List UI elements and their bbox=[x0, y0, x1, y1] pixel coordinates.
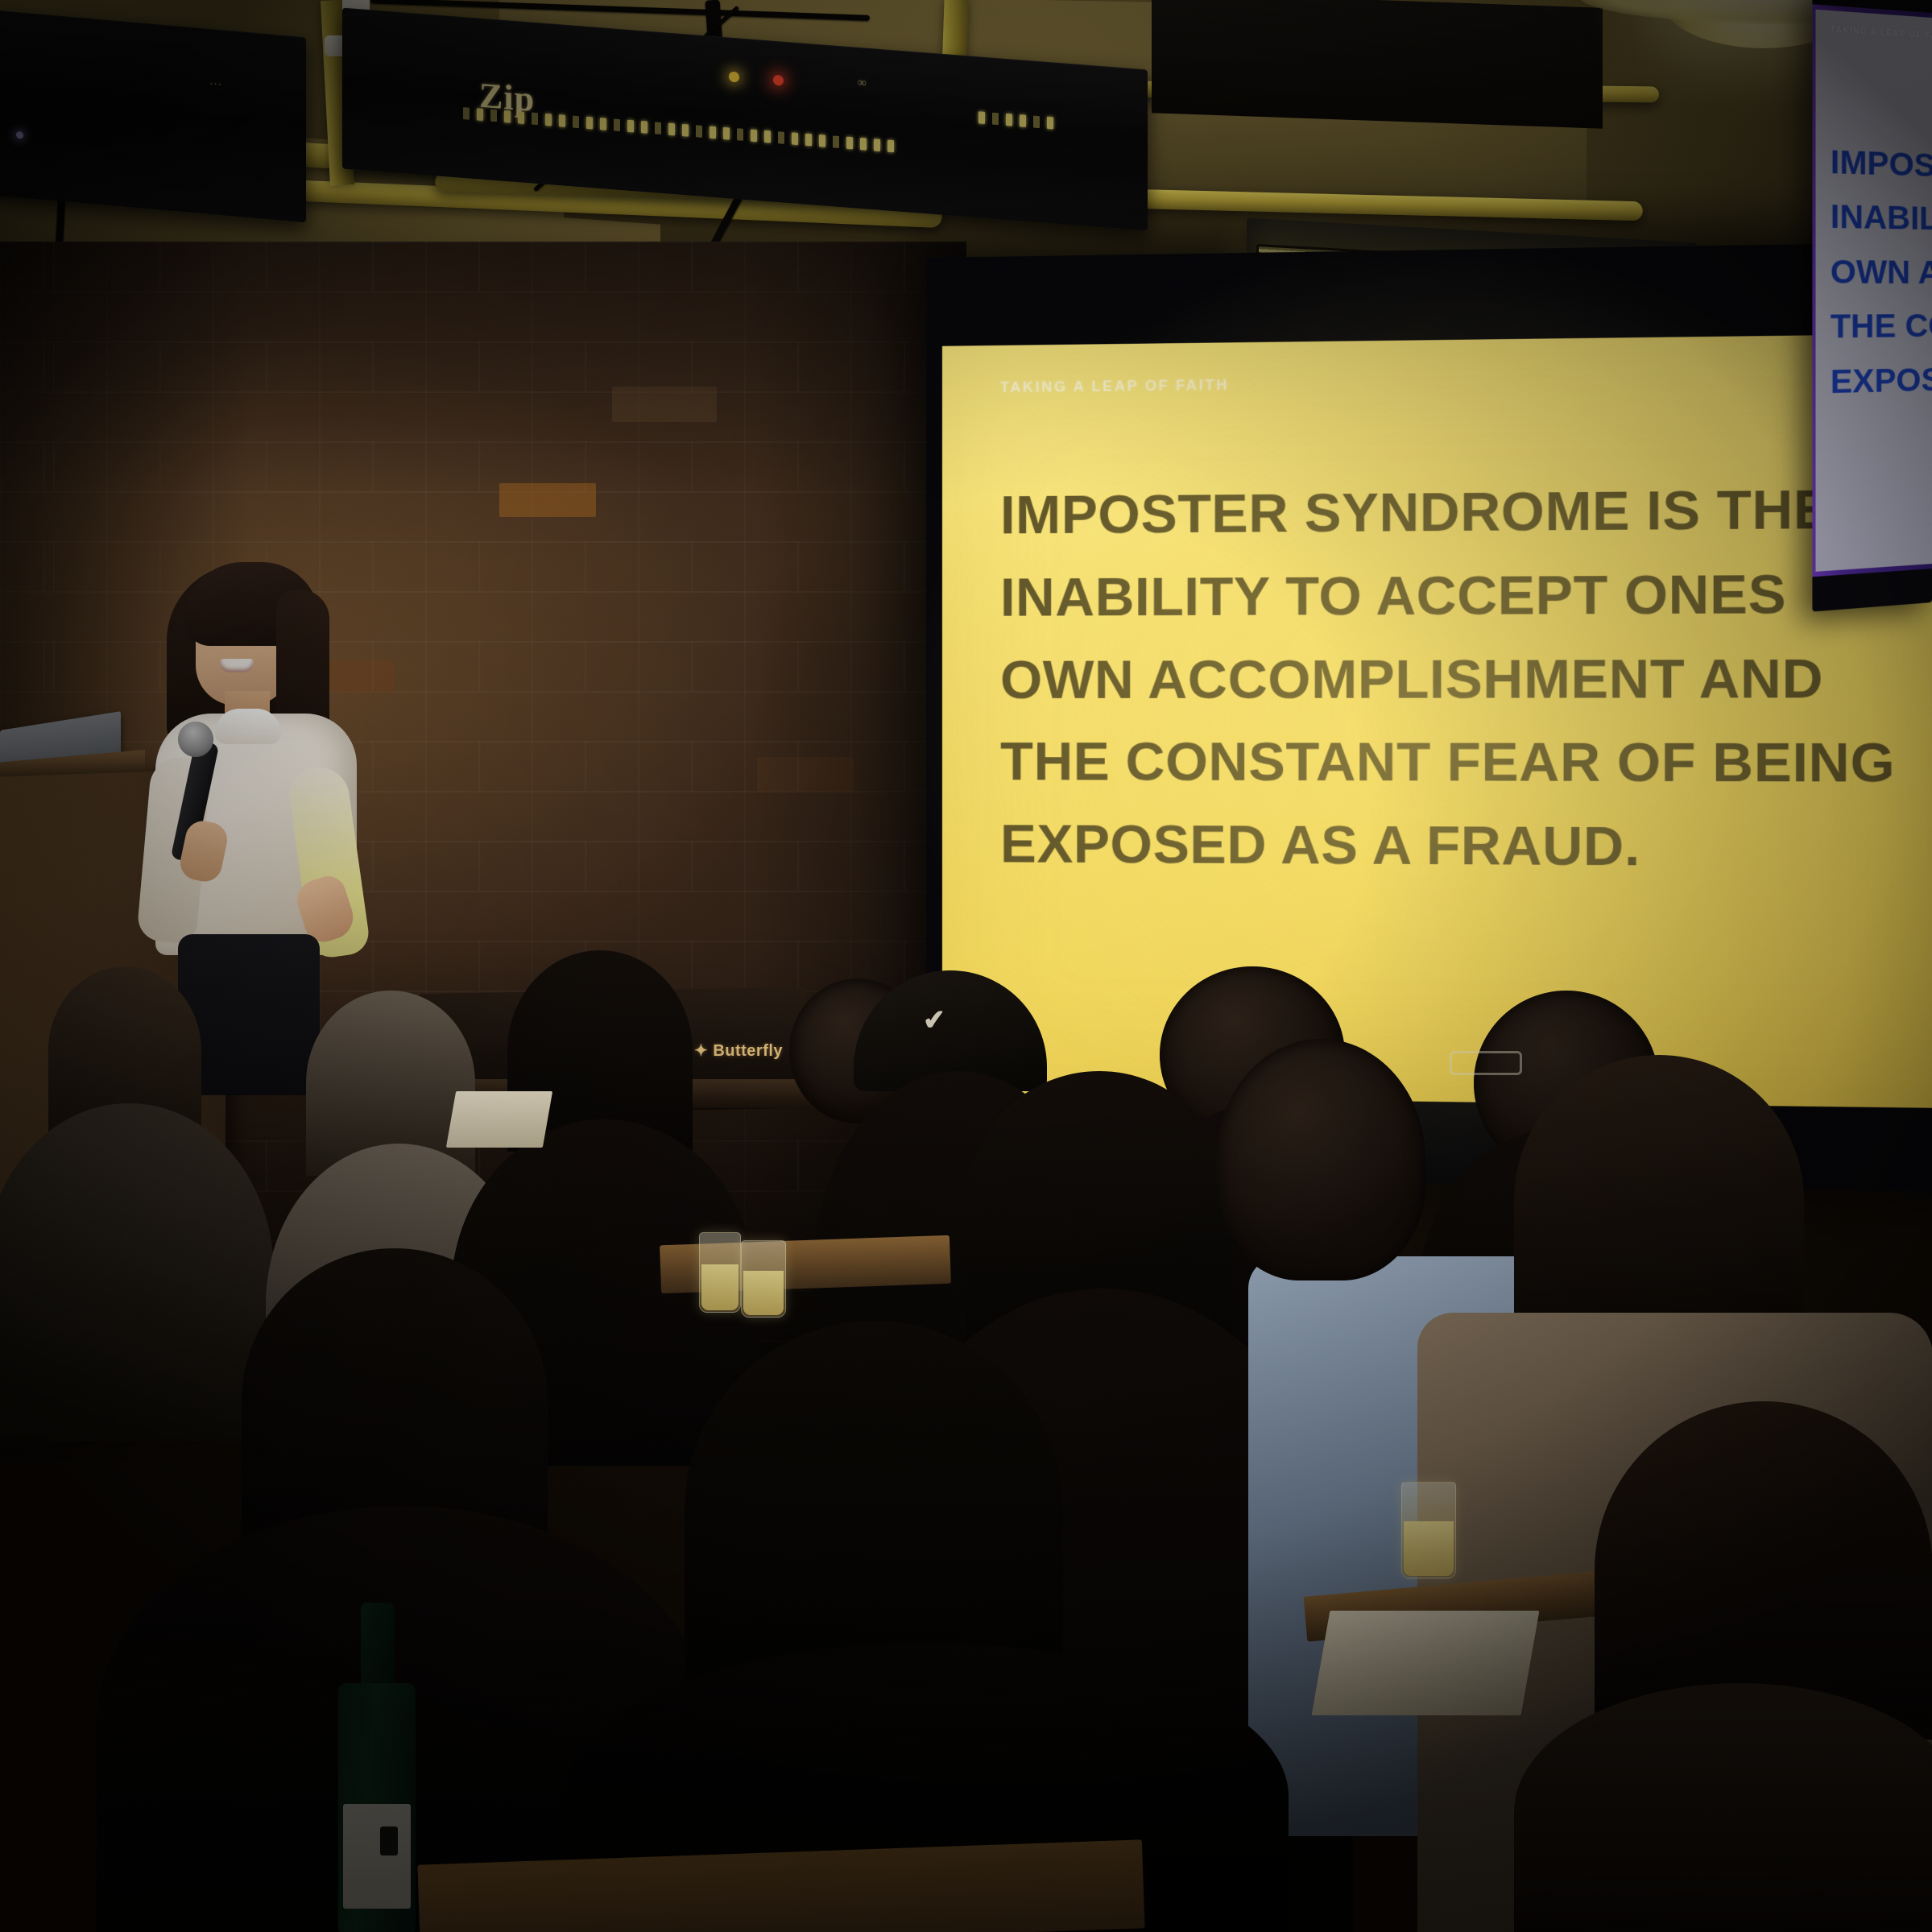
status-led-red bbox=[773, 75, 784, 86]
tv-line-2: INABILITY TO ACCEPT ONES bbox=[1831, 189, 1932, 247]
av-led-row-2 bbox=[978, 111, 1053, 129]
slide-line-2: INABILITY TO ACCEPT ONES bbox=[1000, 552, 1924, 639]
drink-glass-1 bbox=[699, 1232, 741, 1313]
av-led-row-1 bbox=[463, 107, 894, 152]
tv-line-5: EXPOSED AS A FRAUD. bbox=[1831, 350, 1932, 409]
wall-mounted-tv: TAKING A LEAP OF FAITH IMPOSTER SYNDROME… bbox=[1812, 0, 1932, 612]
beer-bottle-label bbox=[343, 1804, 411, 1909]
tv-body-text: IMPOSTER SYNDROME IS THE INABILITY TO AC… bbox=[1831, 134, 1932, 409]
brick-accent-2 bbox=[612, 387, 717, 422]
audience-glasses-icon bbox=[1450, 1051, 1522, 1075]
photo-scene: ··· Zip ∞ bbox=[0, 0, 1932, 1932]
audience-body-far-1 bbox=[0, 1103, 274, 1442]
brick-accent-orange bbox=[499, 483, 596, 517]
butterfly-brand-label: ✦ Butterfly bbox=[694, 1040, 783, 1061]
projected-slide: TAKING A LEAP OF FAITH IMPOSTER SYNDROME… bbox=[942, 333, 1932, 1108]
tv-line-3: OWN ACCOMPLISHMENT AND bbox=[1831, 244, 1932, 299]
ceiling-dark-mass bbox=[1152, 0, 1603, 129]
status-led-amber bbox=[729, 71, 739, 82]
brick-accent-3 bbox=[757, 757, 854, 792]
projection-screen: TAKING A LEAP OF FAITH IMPOSTER SYNDROME… bbox=[926, 242, 1932, 1192]
slide-body-text: IMPOSTER SYNDROME IS THE INABILITY TO AC… bbox=[1000, 467, 1924, 891]
tv-kicker-text: TAKING A LEAP OF FAITH bbox=[1831, 26, 1932, 47]
nike-swoosh-icon: ✔ bbox=[922, 1011, 966, 1030]
audience-head-near-2 bbox=[1514, 1055, 1804, 1345]
slide-line-5: EXPOSED AS A FRAUD. bbox=[1000, 804, 1924, 892]
slide-kicker-text: TAKING A LEAP OF FAITH bbox=[1000, 377, 1229, 396]
audience-head-near-4 bbox=[685, 1321, 1063, 1699]
av-amplifier-left: ··· bbox=[0, 8, 306, 223]
speaker-mouth bbox=[220, 659, 254, 672]
tv-line-4: THE CONSTANT FEAR OF BEING bbox=[1831, 299, 1932, 354]
av-power-led-left bbox=[16, 131, 23, 139]
speaker-turtleneck-collar bbox=[215, 709, 281, 744]
paper-sheet-2 bbox=[1312, 1611, 1540, 1715]
paper-sheet-1 bbox=[446, 1091, 552, 1148]
slide-line-3: OWN ACCOMPLISHMENT AND bbox=[1000, 636, 1924, 721]
tv-screen-content: TAKING A LEAP OF FAITH IMPOSTER SYNDROME… bbox=[1816, 10, 1932, 572]
beer-bottle-neck bbox=[361, 1603, 395, 1695]
drink-glass-2 bbox=[741, 1240, 786, 1318]
tv-line-1: IMPOSTER SYNDROME IS THE bbox=[1831, 134, 1932, 197]
butterfly-icon: ✦ bbox=[694, 1042, 708, 1060]
slide-line-1: IMPOSTER SYNDROME IS THE bbox=[1000, 467, 1924, 556]
drink-glass-3 bbox=[1401, 1482, 1456, 1578]
audience-head-light-shirt bbox=[1216, 1039, 1425, 1280]
slide-line-4: THE CONSTANT FEAR OF BEING bbox=[1000, 721, 1924, 805]
